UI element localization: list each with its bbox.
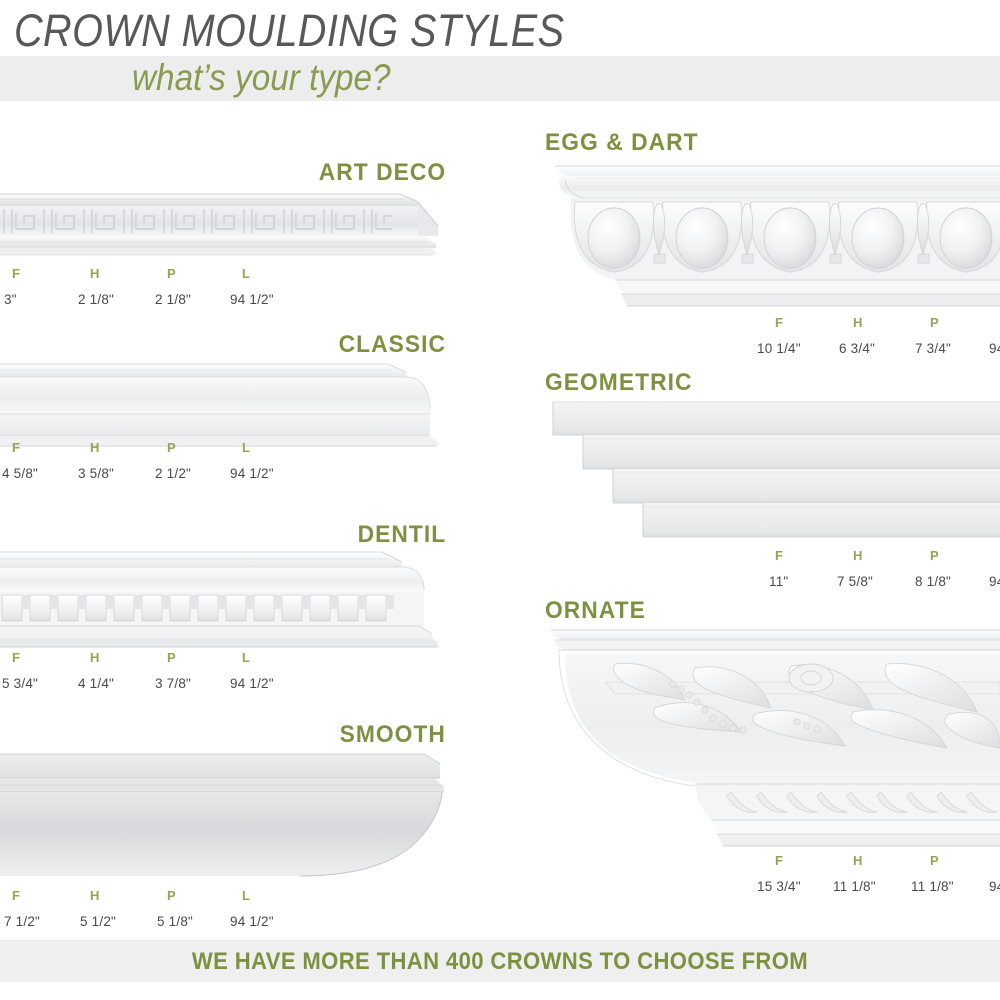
meas-value-f: 15 3/4"	[757, 879, 801, 894]
meas-label-l: L	[242, 440, 250, 455]
style-title-geometric: GEOMETRIC	[545, 370, 692, 396]
meas-value-h: 7 5/8"	[837, 574, 873, 589]
meas-label-p: P	[167, 650, 176, 665]
meas-value-f: 4 5/8"	[2, 466, 38, 481]
style-title-ornate: ORNATE	[545, 598, 646, 624]
meas-value-h: 11 1/8"	[833, 879, 876, 894]
style-block-egg-and-dart: EGG & DART	[545, 130, 1000, 360]
meas-label-h: H	[853, 853, 863, 868]
moulding-art-ornate	[545, 624, 1000, 874]
meas-label-h: H	[90, 266, 100, 281]
meas-value-f: 5 3/4"	[2, 676, 38, 691]
meas-value-h: 2 1/8"	[78, 292, 114, 307]
meas-value-l: 94 1/2"	[989, 879, 1000, 894]
meas-value-p: 2 1/2"	[155, 466, 191, 481]
meas-value-l: 94 1/2"	[230, 676, 274, 691]
meas-label-l: L	[242, 266, 250, 281]
style-title-dentil: DENTIL	[357, 522, 446, 548]
meas-label-p: P	[930, 853, 939, 868]
meas-label-h: H	[90, 888, 100, 903]
style-title-classic: CLASSIC	[339, 332, 446, 358]
meas-value-f: 7 1/2"	[4, 914, 40, 929]
page-subtitle: what’s your type?	[132, 58, 391, 98]
moulding-art-classic	[0, 362, 446, 462]
meas-value-p: 2 1/8"	[155, 292, 191, 307]
meas-value-h: 4 1/4"	[78, 676, 114, 691]
meas-label-p: P	[930, 315, 939, 330]
meas-value-p: 7 3/4"	[915, 341, 951, 356]
meas-value-h: 5 1/2"	[80, 914, 116, 929]
style-block-smooth: SMOOTH F	[0, 722, 446, 922]
meas-value-l: 94 1/2"	[230, 466, 274, 481]
meas-label-f: F	[12, 888, 20, 903]
meas-label-p: P	[167, 266, 176, 281]
meas-label-l: L	[242, 888, 250, 903]
meas-label-h: H	[90, 650, 100, 665]
meas-label-f: F	[775, 315, 783, 330]
meas-value-h: 3 5/8"	[78, 466, 114, 481]
meas-value-f: 3"	[4, 292, 17, 307]
meas-label-f: F	[12, 440, 20, 455]
meas-value-f: 10 1/4"	[757, 341, 801, 356]
moulding-art-art-deco	[0, 192, 446, 272]
meas-value-p: 3 7/8"	[155, 676, 191, 691]
style-title-art-deco: ART DECO	[319, 160, 446, 186]
style-title-egg-and-dart: EGG & DART	[545, 130, 699, 156]
footer-tagline: WE HAVE MORE THAN 400 CROWNS TO CHOOSE F…	[40, 948, 960, 976]
style-block-art-deco: ART DECO	[0, 160, 446, 300]
meas-value-l: 94 1/2"	[230, 292, 274, 307]
meas-label-h: H	[853, 548, 863, 563]
meas-value-l: 94 1/2"	[230, 914, 274, 929]
style-block-ornate: ORNATE	[545, 598, 1000, 898]
meas-label-f: F	[775, 548, 783, 563]
meas-value-f: 11"	[769, 574, 788, 589]
meas-value-h: 6 3/4"	[839, 341, 875, 356]
style-title-smooth: SMOOTH	[340, 722, 446, 748]
meas-label-f: F	[12, 266, 20, 281]
meas-label-f: F	[775, 853, 783, 868]
meas-label-p: P	[167, 440, 176, 455]
meas-label-p: P	[930, 548, 939, 563]
moulding-art-dentil	[0, 550, 446, 660]
meas-value-l: 94 1/2"	[989, 574, 1000, 589]
style-block-classic: CLASSIC	[0, 332, 446, 482]
meas-label-h: H	[853, 315, 863, 330]
page-title: CROWN MOULDING STYLES	[14, 8, 564, 54]
moulding-art-geometric	[545, 398, 1000, 558]
meas-label-p: P	[167, 888, 176, 903]
style-block-geometric: GEOMETRIC	[545, 370, 1000, 590]
moulding-art-smooth	[0, 752, 446, 892]
style-block-dentil: DENTIL	[0, 522, 446, 682]
meas-label-h: H	[90, 440, 100, 455]
page-header: CROWN MOULDING STYLES what’s your type?	[0, 0, 1000, 110]
meas-value-p: 11 1/8"	[911, 879, 954, 894]
meas-label-l: L	[242, 650, 250, 665]
meas-label-f: F	[12, 650, 20, 665]
meas-value-l: 94 1/2"	[989, 341, 1000, 356]
moulding-art-egg-and-dart	[545, 158, 1000, 333]
meas-value-p: 5 1/8"	[157, 914, 193, 929]
meas-value-p: 8 1/8"	[915, 574, 951, 589]
